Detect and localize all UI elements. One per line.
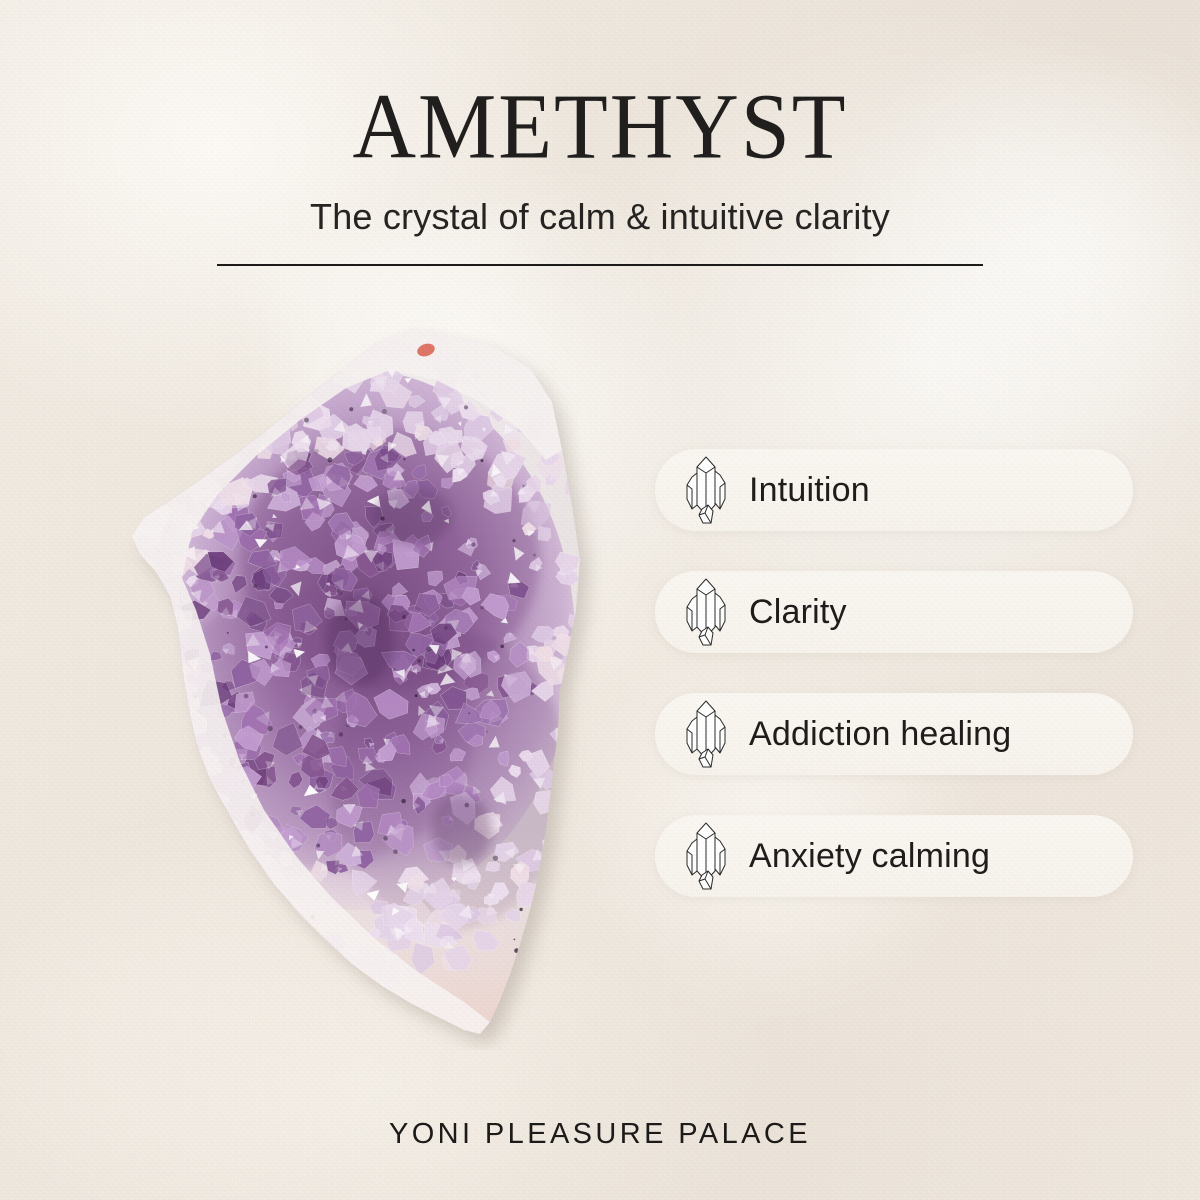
poster-header: AMETHYST The crystal of calm & intuitive…	[0, 84, 1200, 238]
benefit-pill-clarity[interactable]: Clarity	[655, 571, 1133, 653]
benefit-pill-anxiety-calming[interactable]: Anxiety calming	[655, 815, 1133, 897]
header-divider	[217, 264, 983, 266]
benefit-label: Intuition	[749, 471, 870, 510]
crystal-cluster-icon	[677, 451, 735, 529]
benefit-label: Clarity	[749, 593, 847, 632]
benefit-label: Anxiety calming	[749, 837, 990, 876]
crystal-cluster-icon	[677, 817, 735, 895]
page-subtitle: The crystal of calm & intuitive clarity	[0, 196, 1200, 238]
benefit-label: Addiction healing	[749, 715, 1011, 754]
crystal-cluster-icon	[677, 573, 735, 651]
benefits-list: Intuition Clarity	[655, 449, 1133, 897]
amethyst-crystal-image	[60, 310, 620, 1050]
poster-canvas: AMETHYST The crystal of calm & intuitive…	[0, 0, 1200, 1200]
page-title: AMETHYST	[0, 81, 1200, 174]
crystal-cluster-icon	[677, 695, 735, 773]
benefit-pill-intuition[interactable]: Intuition	[655, 449, 1133, 531]
benefit-pill-addiction-healing[interactable]: Addiction healing	[655, 693, 1133, 775]
brand-footer: YONI PLEASURE PALACE	[0, 1118, 1200, 1151]
